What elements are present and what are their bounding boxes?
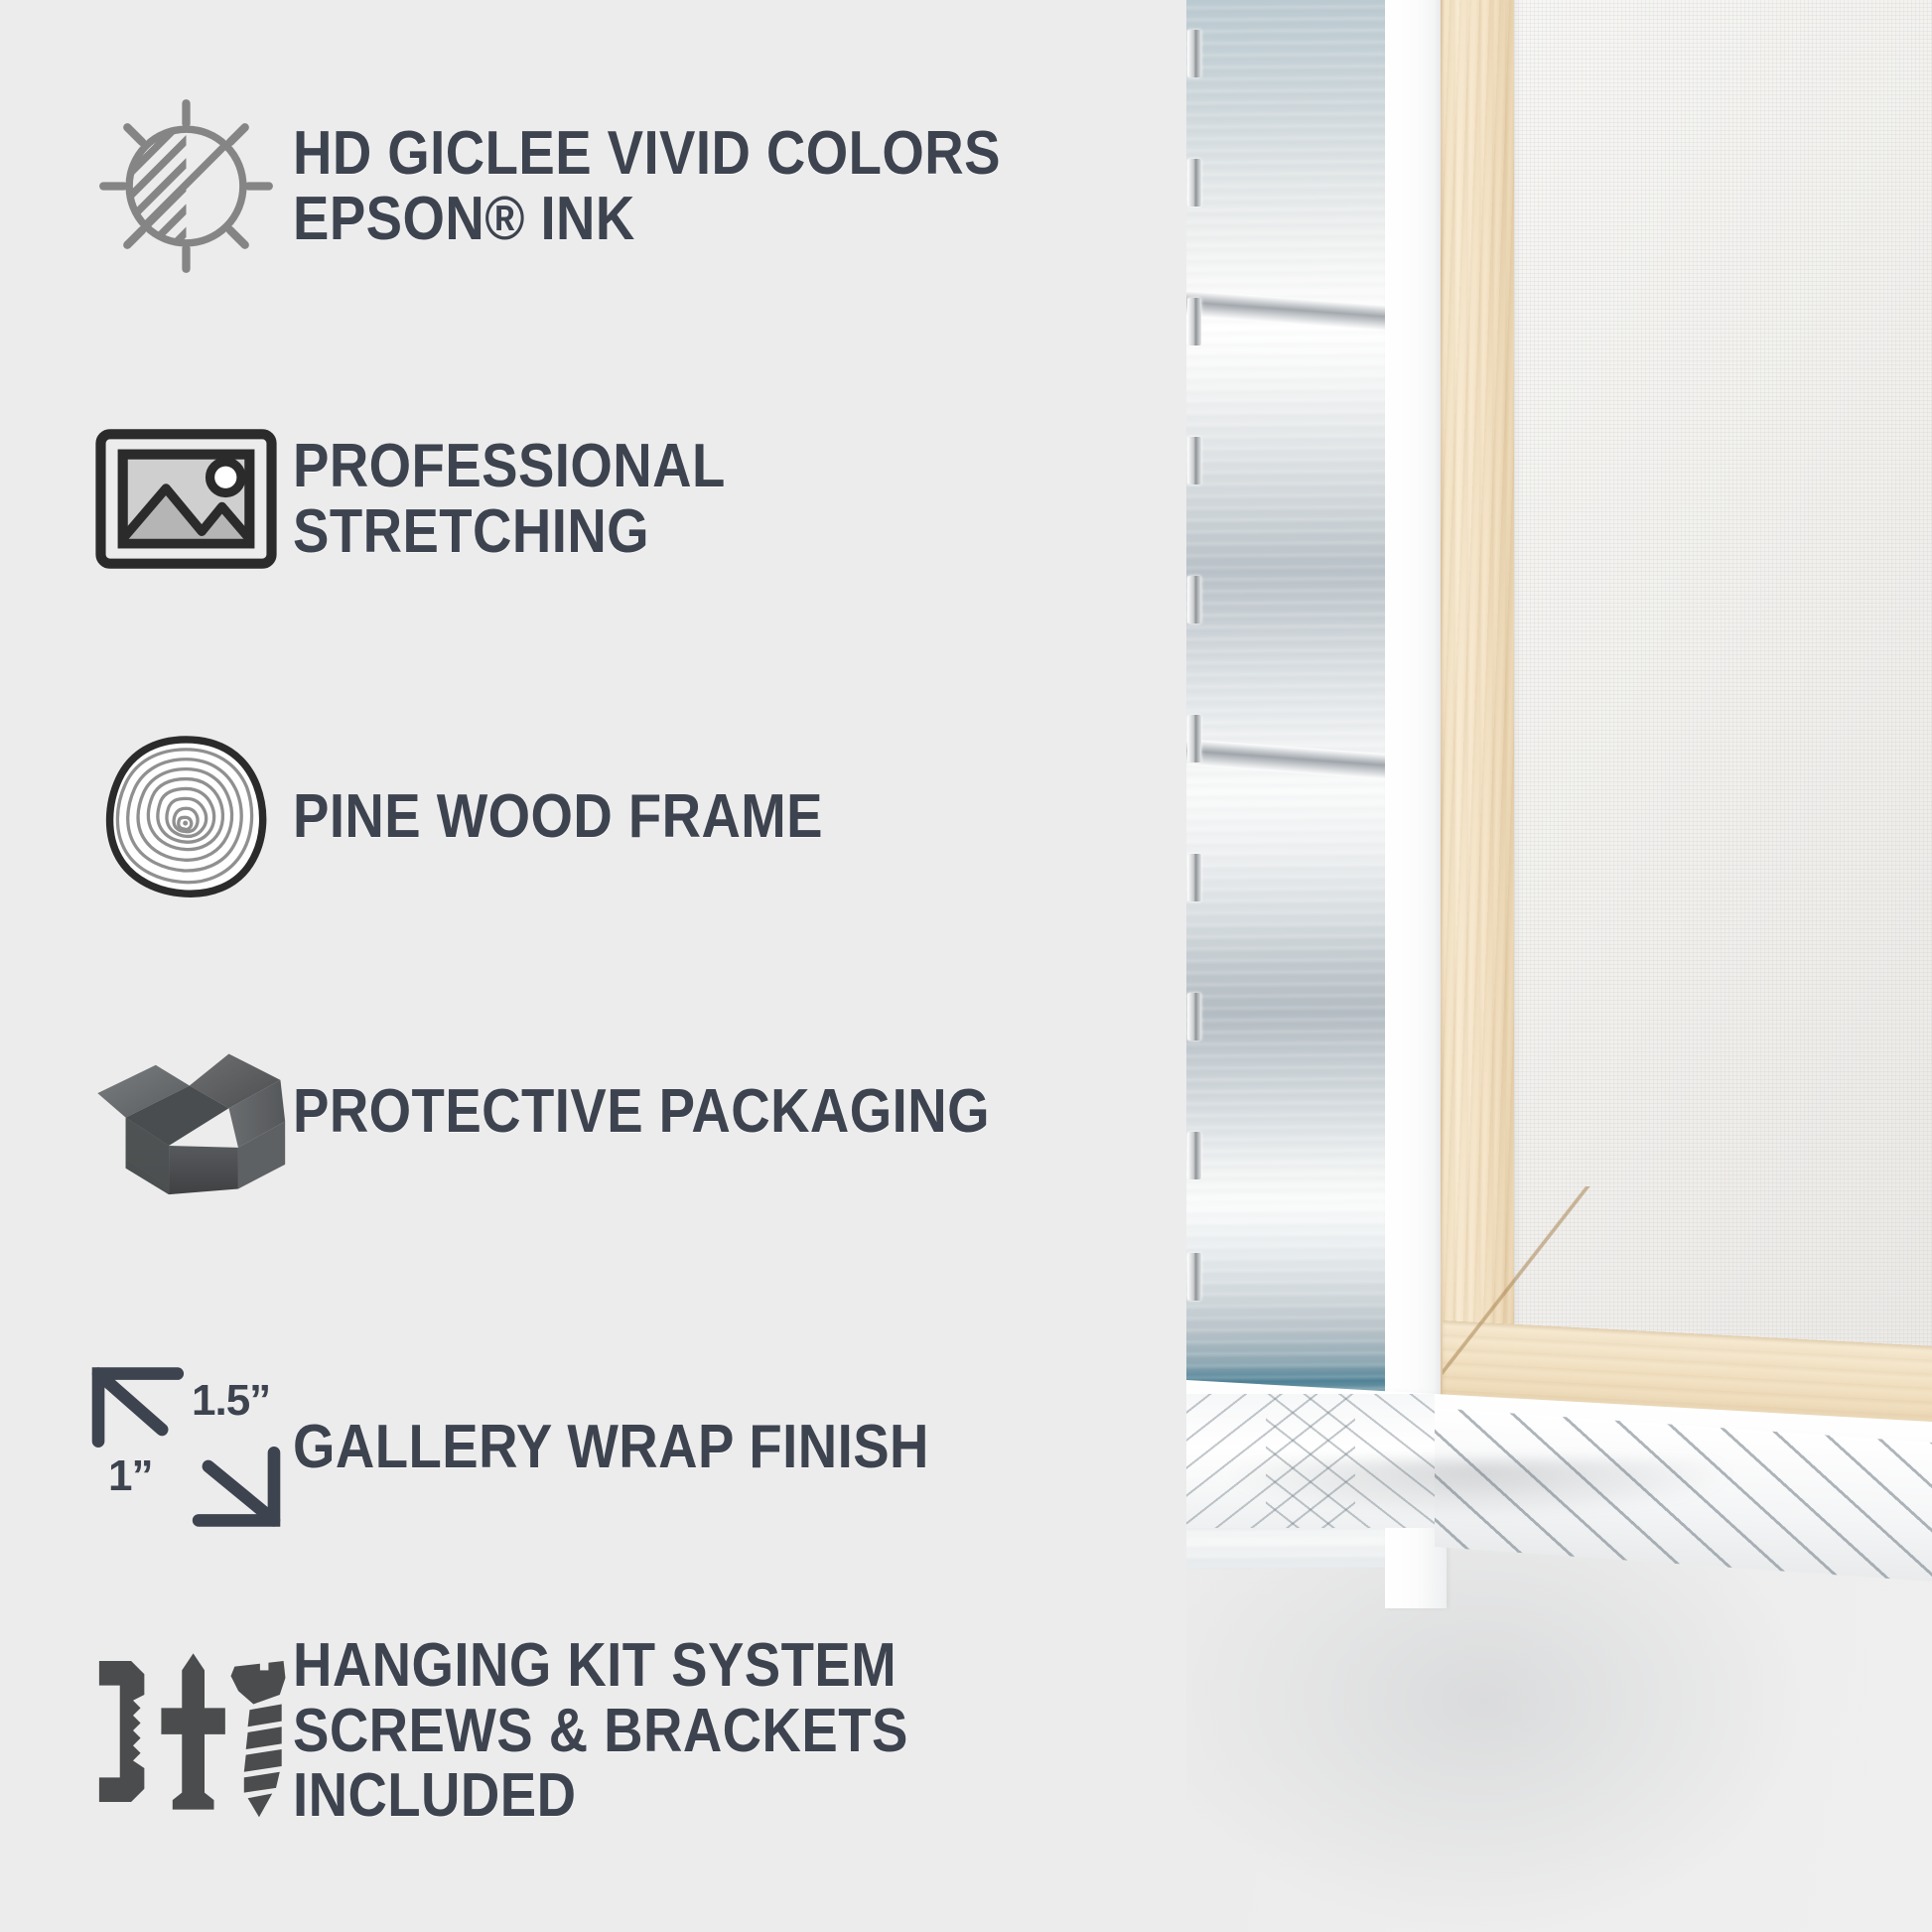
dimension-label-bottom: 1” bbox=[108, 1451, 152, 1501]
infographic-page: HD GICLEE VIVID COLORS EPSON® INK PROFES… bbox=[0, 0, 1932, 1932]
feature-label: PINE WOOD FRAME bbox=[293, 784, 823, 850]
open-box-icon bbox=[79, 1028, 293, 1196]
canvas-wrap-gutter bbox=[1385, 0, 1447, 1608]
printed-canvas-edge bbox=[1186, 0, 1390, 1570]
gallery-wrap-arrows-icon: 1.5” 1” bbox=[79, 1360, 293, 1534]
feature-label: PROFESSIONAL STRETCHING bbox=[293, 434, 1083, 564]
sun-icon bbox=[79, 94, 293, 278]
feature-row-pine-wood-frame: PINE WOOD FRAME bbox=[79, 735, 896, 898]
dimension-label-top: 1.5” bbox=[192, 1376, 270, 1426]
photo-drop-shadow bbox=[1186, 1459, 1891, 1598]
feature-row-gallery-wrap: 1.5” 1” GALLERY WRAP FINISH bbox=[79, 1360, 1016, 1534]
feature-row-protective-packaging: PROTECTIVE PACKAGING bbox=[79, 1028, 1085, 1196]
frame-mitre-joint bbox=[1443, 1186, 1591, 1375]
picture-frame-icon bbox=[79, 427, 293, 571]
feature-row-professional-stretching: PROFESSIONAL STRETCHING bbox=[79, 427, 1191, 571]
canvas-print-corner-photo bbox=[1186, 0, 1932, 1932]
feature-label: HANGING KIT SYSTEM SCREWS & BRACKETS INC… bbox=[293, 1633, 1083, 1829]
wood-ring-icon bbox=[79, 735, 293, 898]
feature-list: HD GICLEE VIVID COLORS EPSON® INK PROFES… bbox=[0, 0, 1191, 1932]
feature-label: GALLERY WRAP FINISH bbox=[293, 1415, 929, 1480]
feature-label: HD GICLEE VIVID COLORS EPSON® INK bbox=[293, 121, 1001, 251]
feature-row-hanging-kit: HANGING KIT SYSTEM SCREWS & BRACKETS INC… bbox=[79, 1633, 1191, 1829]
feature-label: PROTECTIVE PACKAGING bbox=[293, 1079, 990, 1145]
hanging-hardware-icon bbox=[79, 1642, 293, 1821]
feature-row-hd-giclee: HD GICLEE VIVID COLORS EPSON® INK bbox=[79, 94, 1097, 278]
